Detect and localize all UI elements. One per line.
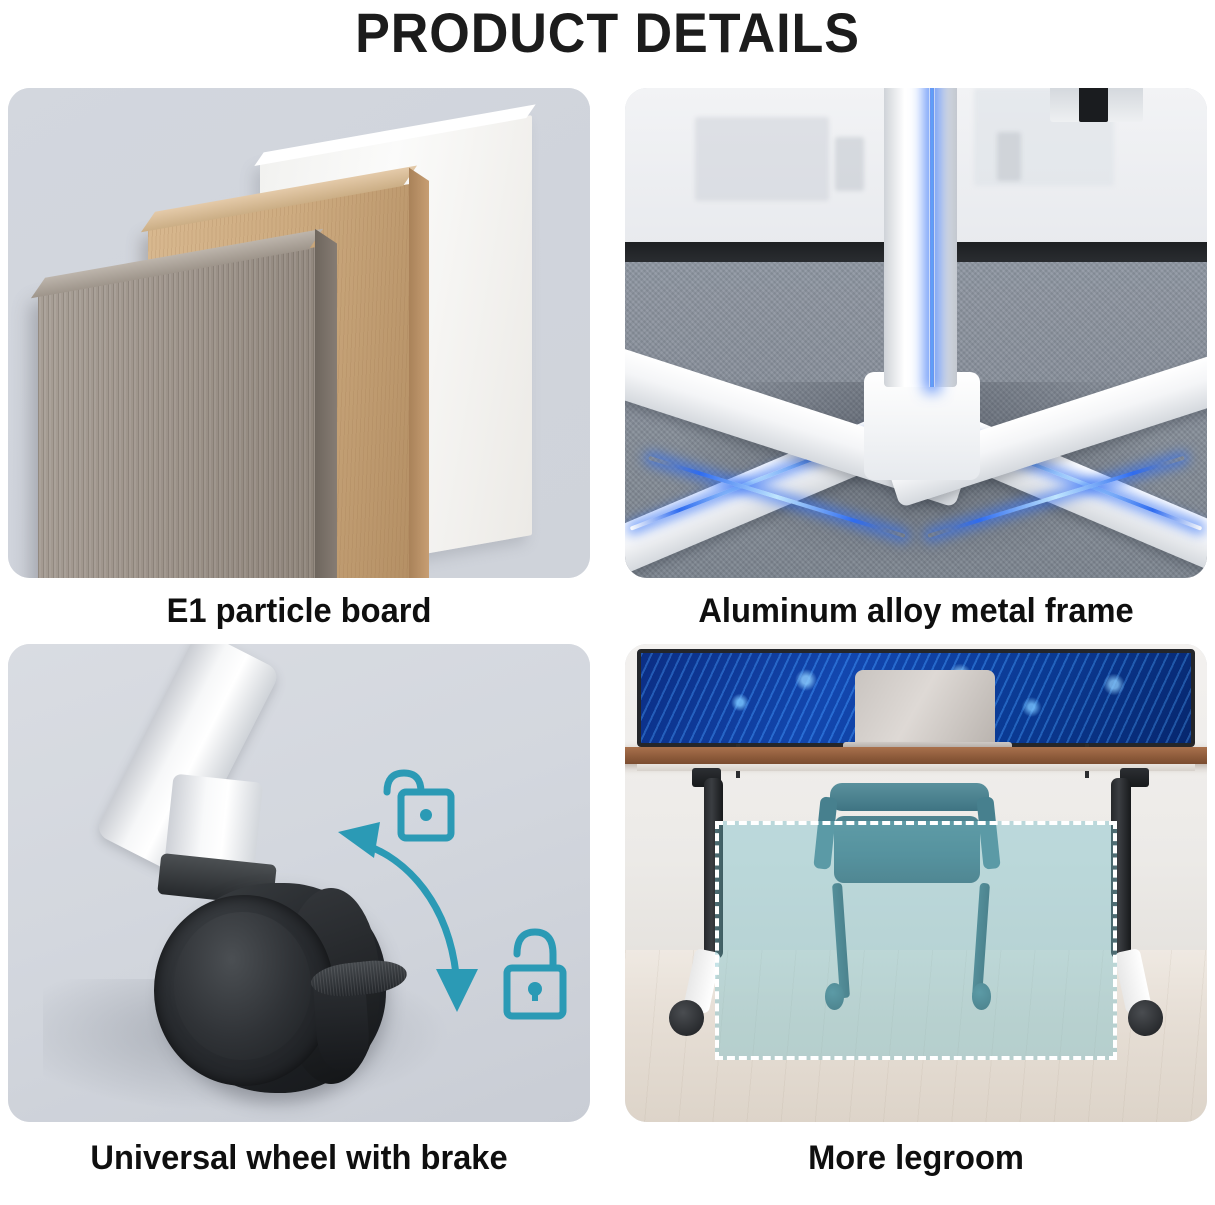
caption-universal-wheel: Universal wheel with brake: [20, 1122, 579, 1194]
wall-fixture: [695, 117, 829, 200]
lock-icon: [507, 932, 563, 1016]
caption-aluminum-frame: Aluminum alloy metal frame: [637, 578, 1196, 644]
wall-fixture: [835, 137, 864, 191]
curved-double-arrow: [363, 844, 456, 974]
board-grey: [38, 247, 316, 578]
blue-glow-column-accent: [929, 88, 935, 387]
panel-particle-board[interactable]: [8, 88, 590, 578]
board-grey-side-edge: [315, 229, 337, 578]
panel-aluminum-frame[interactable]: [625, 88, 1207, 578]
laptop-lid: [855, 670, 995, 746]
page-title: PRODUCT DETAILS: [43, 0, 1173, 64]
panel-universal-wheel[interactable]: [8, 644, 590, 1122]
arrow-head-down: [436, 969, 478, 1012]
wheel-annotations: [8, 644, 590, 1122]
wall-dark-fixture: [1079, 88, 1108, 122]
desk-top: [625, 747, 1207, 764]
panel-more-legroom[interactable]: [625, 644, 1207, 1122]
legroom-highlight-area: [715, 821, 1117, 1060]
arrow-head-up-left: [338, 822, 380, 858]
frame-hub: [864, 372, 980, 480]
caption-more-legroom: More legroom: [637, 1122, 1196, 1194]
desk-caster-left: [669, 1000, 704, 1036]
chair-headrest: [830, 783, 989, 812]
board-oak-side-edge: [409, 168, 429, 578]
product-details-grid: E1 particle board Aluminum alloy metal f…: [8, 88, 1207, 1200]
caption-particle-board: E1 particle board: [20, 578, 579, 644]
wall-fixture: [997, 132, 1020, 181]
unlock-icon: [387, 773, 451, 838]
frame-column: [884, 88, 957, 387]
